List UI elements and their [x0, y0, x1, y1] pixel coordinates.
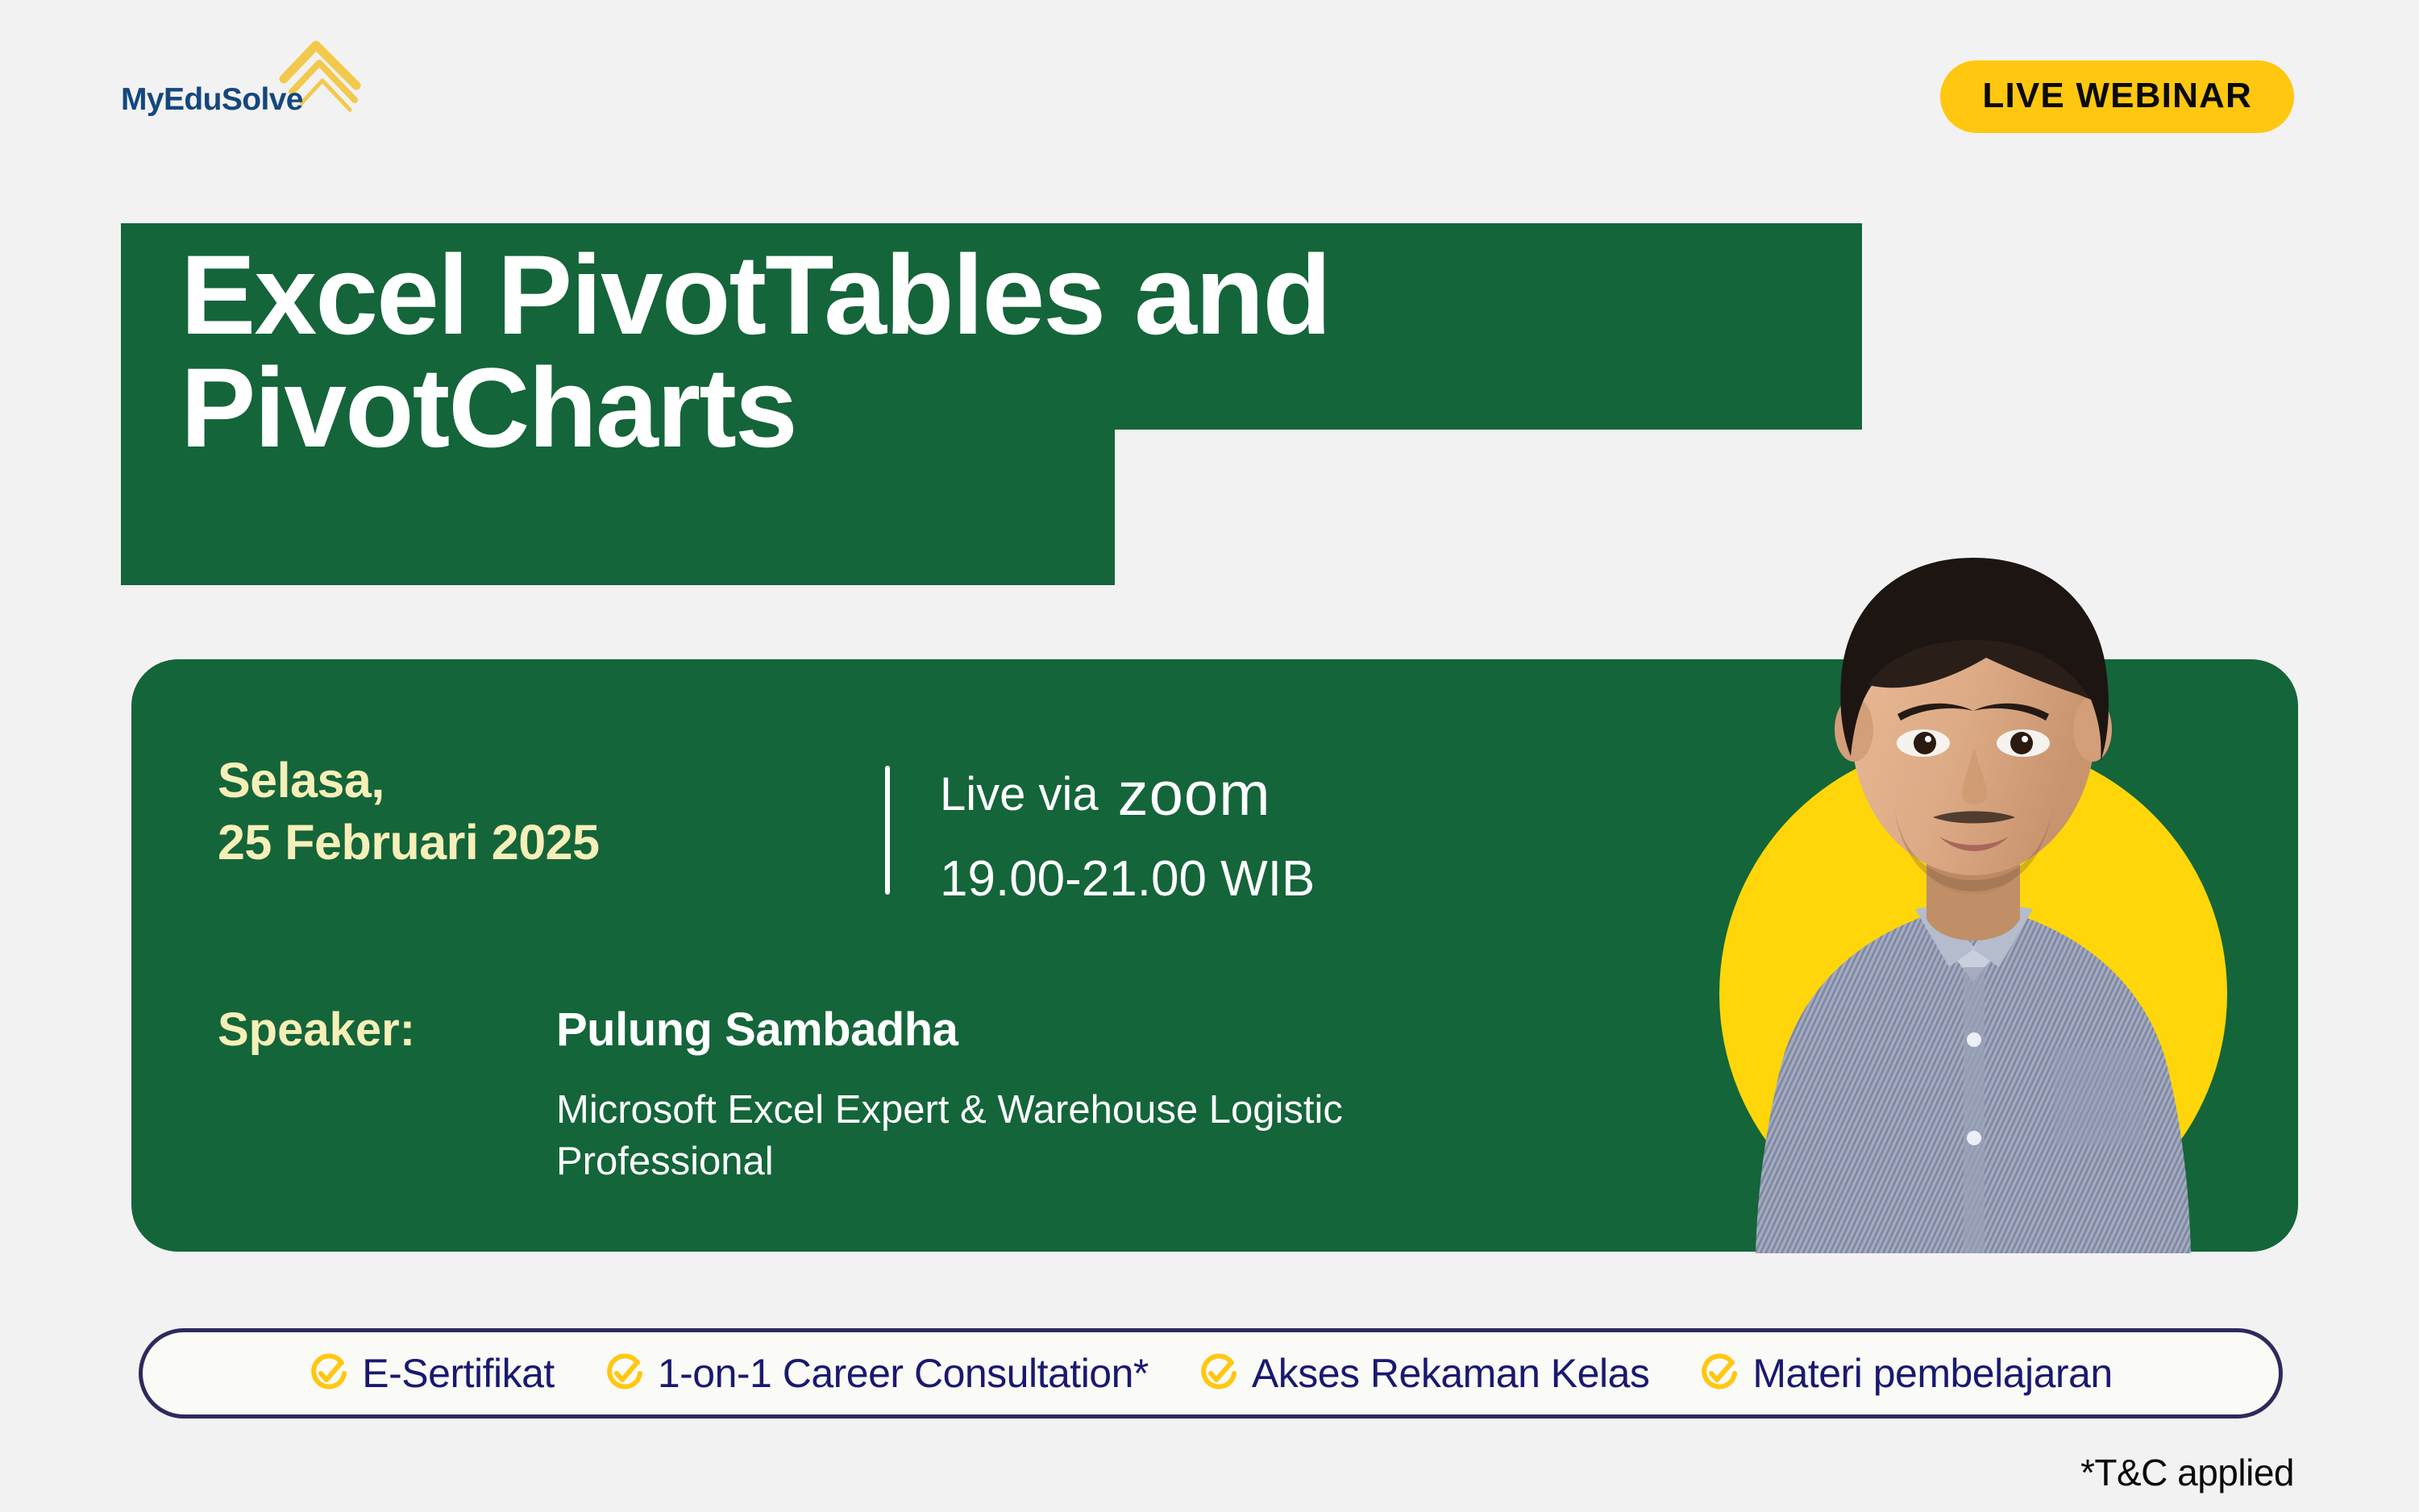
speaker-title: Microsoft Excel Expert & Warehouse Logis… — [556, 1085, 1604, 1187]
benefits-bar: E-Sertifikat 1-on-1 Career Consultation*… — [139, 1328, 2283, 1419]
benefit-item: Materi pembelajaran — [1699, 1350, 2112, 1397]
live-webinar-badge: LIVE WEBINAR — [1940, 60, 2294, 133]
zoom-wordmark: zoom — [1118, 764, 1271, 825]
vertical-divider — [885, 766, 890, 895]
platform-prefix-label: Live via — [940, 771, 1099, 818]
brand-logo-text: MyEduSolve — [121, 82, 303, 118]
benefit-label: Materi pembelajaran — [1752, 1350, 2112, 1397]
check-circle-icon — [605, 1353, 645, 1394]
terms-note: *T&C applied — [2080, 1451, 2294, 1494]
speaker-photo-area — [1707, 484, 2239, 1253]
benefit-label: E-Sertifikat — [362, 1350, 555, 1397]
webinar-poster: MyEduSolve LIVE WEBINAR Excel PivotTable… — [0, 0, 2419, 1512]
brand-logo: MyEduSolve — [121, 32, 363, 121]
speaker-portrait — [1707, 484, 2239, 1253]
event-time: 19.00-21.00 WIB — [940, 854, 1315, 904]
benefit-label: Akses Rekaman Kelas — [1252, 1350, 1650, 1397]
speaker-name: Pulung Sambadha — [556, 1003, 958, 1057]
check-circle-icon — [309, 1353, 349, 1394]
event-platform: Live via zoom — [940, 759, 1271, 820]
benefit-item: E-Sertifikat — [309, 1350, 555, 1397]
event-date: Selasa, 25 Februari 2025 — [218, 750, 600, 874]
benefit-item: Akses Rekaman Kelas — [1199, 1350, 1650, 1397]
check-circle-icon — [1199, 1353, 1239, 1394]
page-title: Excel PivotTables and PivotCharts — [181, 239, 1954, 464]
speaker-photo-clip — [1707, 484, 2239, 1253]
check-circle-icon — [1699, 1353, 1739, 1394]
benefit-label: 1-on-1 Career Consultation* — [658, 1350, 1149, 1397]
speaker-label: Speaker: — [218, 1003, 415, 1057]
benefit-item: 1-on-1 Career Consultation* — [605, 1350, 1149, 1397]
